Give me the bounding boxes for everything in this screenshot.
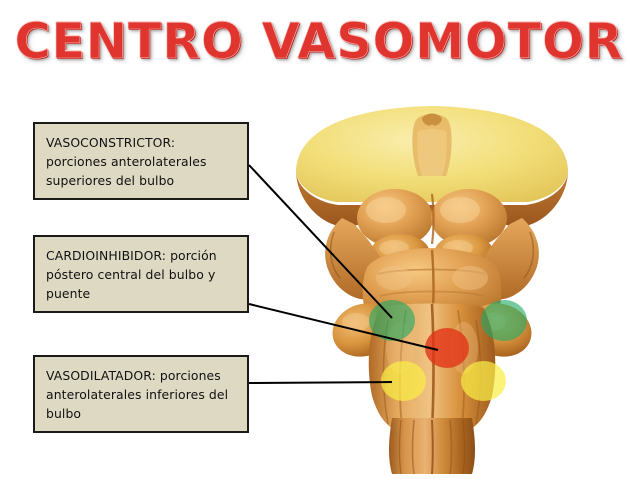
callout-vasoconstrictor[interactable]: VASOCONSTRICTOR: porciones anterolateral… bbox=[33, 122, 249, 200]
marker-vasodilatador-right bbox=[461, 361, 506, 401]
callout-vasodilatador[interactable]: VASODILATADOR: porciones anterolaterales… bbox=[33, 355, 249, 433]
marker-cardioinhibidor-center bbox=[425, 328, 469, 368]
marker-vasoconstrictor-right bbox=[481, 300, 527, 341]
marker-vasodilatador-left bbox=[381, 361, 426, 401]
slide-canvas: CENTRO VASOMOTOR bbox=[0, 0, 638, 479]
spinal-cord bbox=[389, 418, 475, 474]
superior-colliculi bbox=[357, 189, 507, 247]
cut-surface-group bbox=[296, 106, 568, 227]
callout-cardioinhibidor[interactable]: CARDIOINHIBIDOR: porción póstero central… bbox=[33, 235, 249, 313]
brainstem-illustration bbox=[282, 98, 582, 476]
brainstem-svg bbox=[282, 98, 582, 476]
marker-vasoconstrictor-left bbox=[369, 300, 415, 341]
page-title: CENTRO VASOMOTOR bbox=[0, 14, 638, 70]
